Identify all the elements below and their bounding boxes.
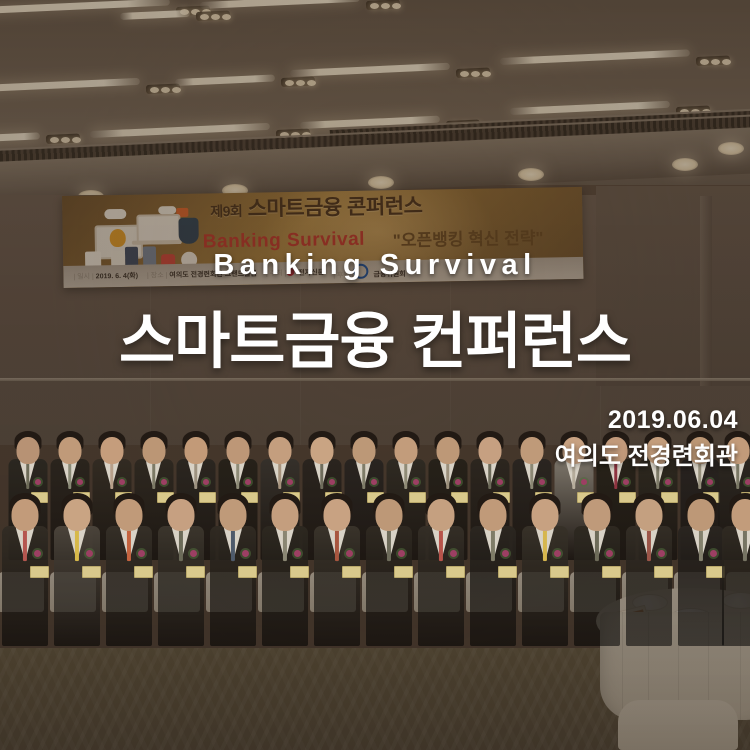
attendee-tie: [127, 530, 131, 561]
attendee: [722, 494, 750, 646]
attendee-tie: [194, 463, 198, 489]
attendee-head: [324, 499, 351, 531]
attendee-name-badge: [290, 566, 309, 578]
attendee: [678, 494, 724, 646]
attendee-name-badge: [446, 566, 465, 578]
attendee-name-badge: [238, 566, 257, 578]
attendee-tie: [543, 530, 547, 561]
attendee-tie: [699, 530, 703, 561]
attendee-name-badge: [30, 566, 49, 578]
attendee-head: [184, 437, 207, 464]
attendee-head: [520, 437, 543, 464]
attendee-tie: [595, 530, 599, 561]
attendee-name-badge: [186, 566, 205, 578]
attendee: [366, 494, 412, 646]
attendee-head: [142, 437, 165, 464]
attendee-head: [436, 437, 459, 464]
attendee: [210, 494, 256, 646]
attendee-tie: [491, 530, 495, 561]
attendee-corsage: [745, 479, 750, 485]
attendee-head: [168, 499, 195, 531]
attendee-tie: [26, 463, 30, 489]
attendee-head: [220, 499, 247, 531]
attendee-tie: [387, 530, 391, 561]
attendee-head: [584, 499, 611, 531]
attendee-name-badge: [602, 566, 621, 578]
attendee-tie: [68, 463, 72, 489]
attendee-tie: [236, 463, 240, 489]
attendee: [574, 494, 620, 646]
attendee: [262, 494, 308, 646]
attendee-tie: [283, 530, 287, 561]
attendee-tie: [647, 530, 651, 561]
event-location: 여의도 전경련회관: [555, 436, 738, 471]
attendee-tie: [743, 530, 747, 561]
attendee-tie: [152, 463, 156, 489]
attendee: [418, 494, 464, 646]
attendee-head: [394, 437, 417, 464]
attendee-head: [376, 499, 403, 531]
attendee-head: [272, 499, 299, 531]
attendee-tie: [320, 463, 324, 489]
attendee-tie: [439, 530, 443, 561]
attendee-head: [12, 499, 39, 531]
attendee-head: [268, 437, 291, 464]
attendee: [54, 494, 100, 646]
attendee-head: [532, 499, 559, 531]
attendee-head: [480, 499, 507, 531]
attendee-name-badge: [498, 566, 517, 578]
attendee-tie: [278, 463, 282, 489]
attendee-head: [352, 437, 375, 464]
attendee-name-badge: [342, 566, 361, 578]
attendee-tie: [446, 463, 450, 489]
attendee: [522, 494, 568, 646]
attendee-tie: [530, 463, 534, 489]
attendee-head: [100, 437, 123, 464]
attendee: [470, 494, 516, 646]
attendee-tie: [488, 463, 492, 489]
attendee-head: [732, 499, 750, 531]
attendee-name-badge: [550, 566, 569, 578]
attendee: [2, 494, 48, 646]
attendee-tie: [231, 530, 235, 561]
attendee: [158, 494, 204, 646]
conference-promo-image: 제9회 스마트금융 콘퍼런스 Banking Survival "오픈뱅킹 혁신…: [0, 0, 750, 750]
attendee-head: [478, 437, 501, 464]
attendee-name-badge: [82, 566, 101, 578]
attendee-tie: [179, 530, 183, 561]
attendee-name-badge: [394, 566, 413, 578]
attendee: [106, 494, 152, 646]
attendee-tie: [75, 530, 79, 561]
main-title: 스마트금융 컨퍼런스: [0, 291, 750, 380]
attendee-head: [636, 499, 663, 531]
attendee-head: [116, 499, 143, 531]
attendee: [314, 494, 360, 646]
attendee-head: [226, 437, 249, 464]
attendee-tie: [23, 530, 27, 561]
attendee-head: [58, 437, 81, 464]
attendee-tie: [110, 463, 114, 489]
attendee-head: [428, 499, 455, 531]
attendee: [626, 494, 672, 646]
subtitle-banking-survival: Banking Survival: [0, 249, 750, 282]
attendee-tie: [362, 463, 366, 489]
attendee-name-badge: [654, 566, 673, 578]
attendee-tie: [404, 463, 408, 489]
attendee-head: [688, 499, 715, 531]
attendee-head: [310, 437, 333, 464]
attendee-head: [64, 499, 91, 531]
attendee-head: [16, 437, 39, 464]
event-date: 2019.06.04: [608, 406, 738, 435]
attendee-name-badge: [134, 566, 153, 578]
attendee-tie: [335, 530, 339, 561]
